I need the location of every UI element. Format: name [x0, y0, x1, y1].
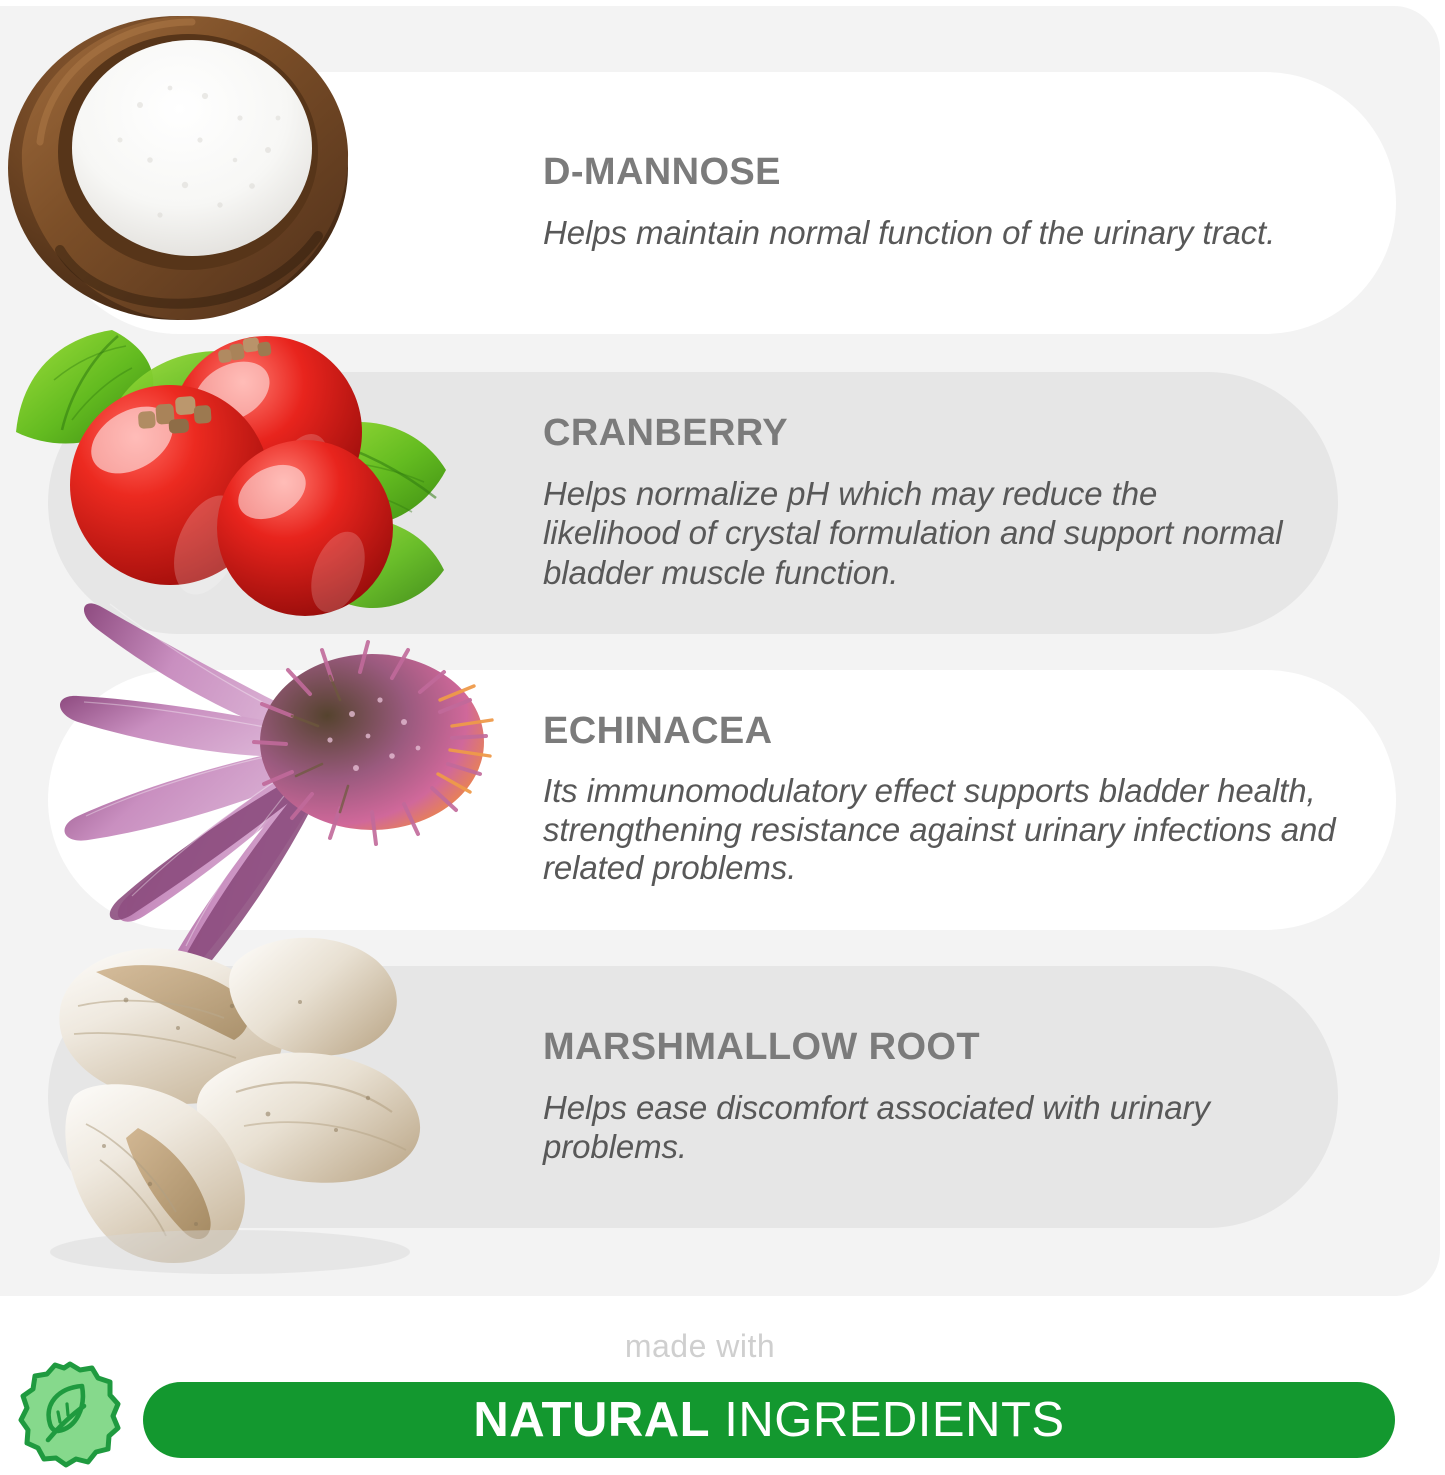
ingredient-card-cranberry: CRANBERRY Helps normalize pH which may r… [48, 372, 1338, 634]
natural-ingredients-banner: made with NATURAL INGREDIENTS [0, 1296, 1445, 1468]
ingredient-description: Its immunomodulatory effect supports bla… [543, 772, 1356, 888]
ingredient-title: D-MANNOSE [543, 153, 1356, 191]
made-with-label: made with [0, 1328, 1400, 1365]
natural-word: NATURAL [473, 1393, 710, 1447]
natural-ingredients-text: NATURAL INGREDIENTS [473, 1396, 1064, 1445]
ingredient-title: ECHINACEA [543, 712, 1356, 750]
leaf-badge-icon [14, 1358, 126, 1470]
ingredient-title: MARSHMALLOW ROOT [543, 1028, 1298, 1066]
ingredient-card-d-mannose: D-MANNOSE Helps maintain normal function… [48, 72, 1396, 334]
ingredient-card-echinacea: ECHINACEA Its immunomodulatory effect su… [48, 670, 1396, 930]
ingredient-description: Helps normalize pH which may reduce the … [543, 474, 1298, 592]
ingredient-description: Helps maintain normal function of the ur… [543, 213, 1356, 252]
ingredient-description: Helps ease discomfort associated with ur… [543, 1088, 1298, 1167]
ingredient-title: CRANBERRY [543, 414, 1298, 452]
natural-ingredients-bar: NATURAL INGREDIENTS [143, 1382, 1395, 1458]
ingredients-word: INGREDIENTS [724, 1393, 1064, 1447]
ingredients-panel: D-MANNOSE Helps maintain normal function… [0, 6, 1440, 1296]
ingredient-card-marshmallow-root: MARSHMALLOW ROOT Helps ease discomfort a… [48, 966, 1338, 1228]
